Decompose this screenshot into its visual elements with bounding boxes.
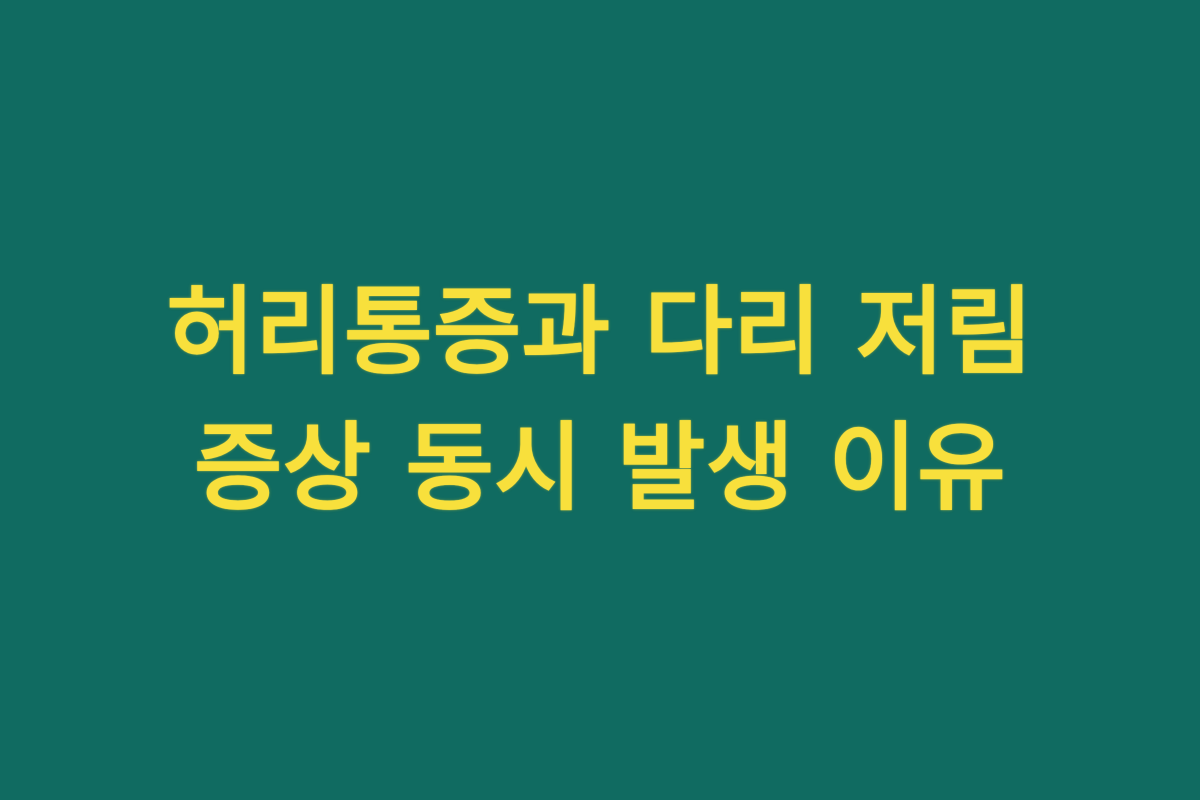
banner-headline: 허리통증과 다리 저림 증상 동시 발생 이유 <box>70 264 1130 537</box>
banner-canvas: 허리통증과 다리 저림 증상 동시 발생 이유 <box>0 0 1200 800</box>
